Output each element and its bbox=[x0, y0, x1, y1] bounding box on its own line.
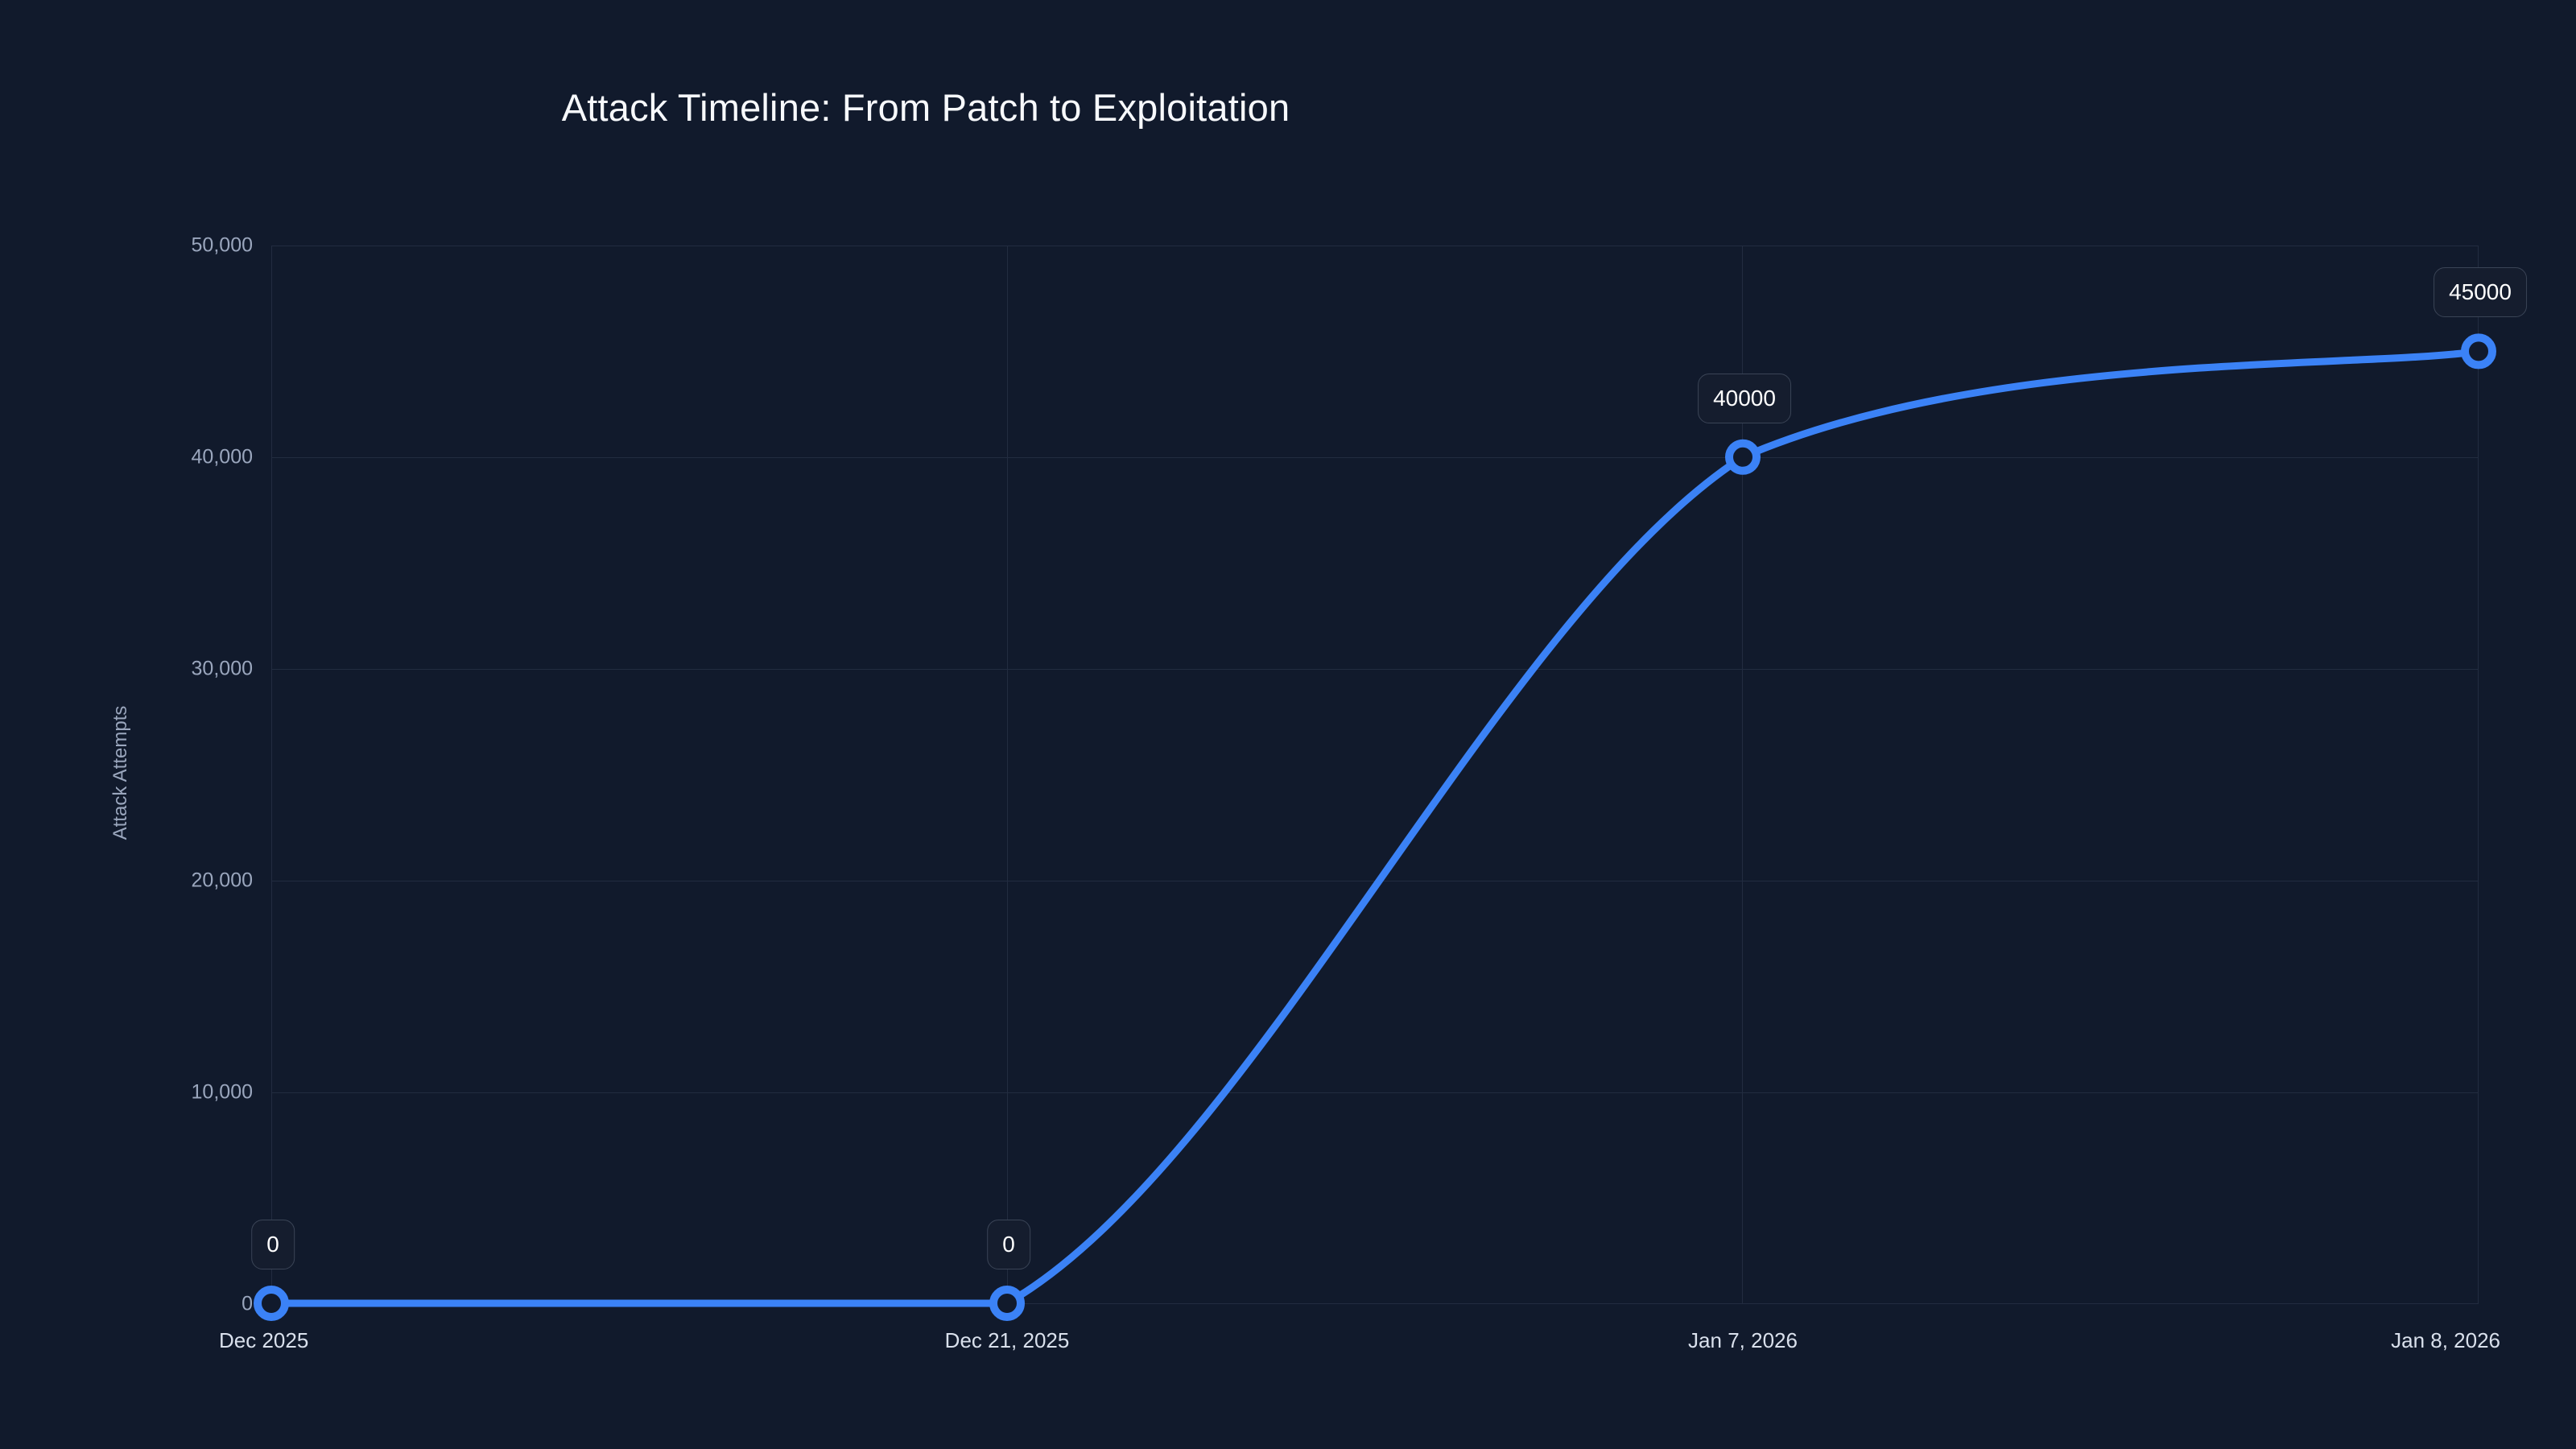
x-tick-label-jan-8-2026: Jan 8, 2026 bbox=[2391, 1330, 2500, 1351]
data-label-3: 45000 bbox=[2434, 267, 2527, 317]
x-tick-label-jan-7-2026: Jan 7, 2026 bbox=[1688, 1330, 1798, 1351]
data-point-marker-0[interactable] bbox=[258, 1290, 285, 1317]
data-point-marker-3[interactable] bbox=[2465, 337, 2492, 365]
data-point-marker-1[interactable] bbox=[993, 1290, 1021, 1317]
x-tick-label-dec-21-2025: Dec 21, 2025 bbox=[945, 1330, 1070, 1351]
chart-root: Attack Timeline: From Patch to Exploitat… bbox=[0, 0, 2576, 1449]
data-point-marker-2[interactable] bbox=[1729, 444, 1757, 471]
data-label-0: 0 bbox=[251, 1220, 295, 1269]
series-line-attack-attempts bbox=[271, 351, 2479, 1303]
series-markers bbox=[258, 337, 2492, 1317]
x-tick-label-dec-2025: Dec 2025 bbox=[219, 1330, 308, 1351]
data-label-2: 40000 bbox=[1698, 374, 1791, 423]
data-label-1: 0 bbox=[987, 1220, 1030, 1269]
series-layer bbox=[0, 0, 2576, 1449]
